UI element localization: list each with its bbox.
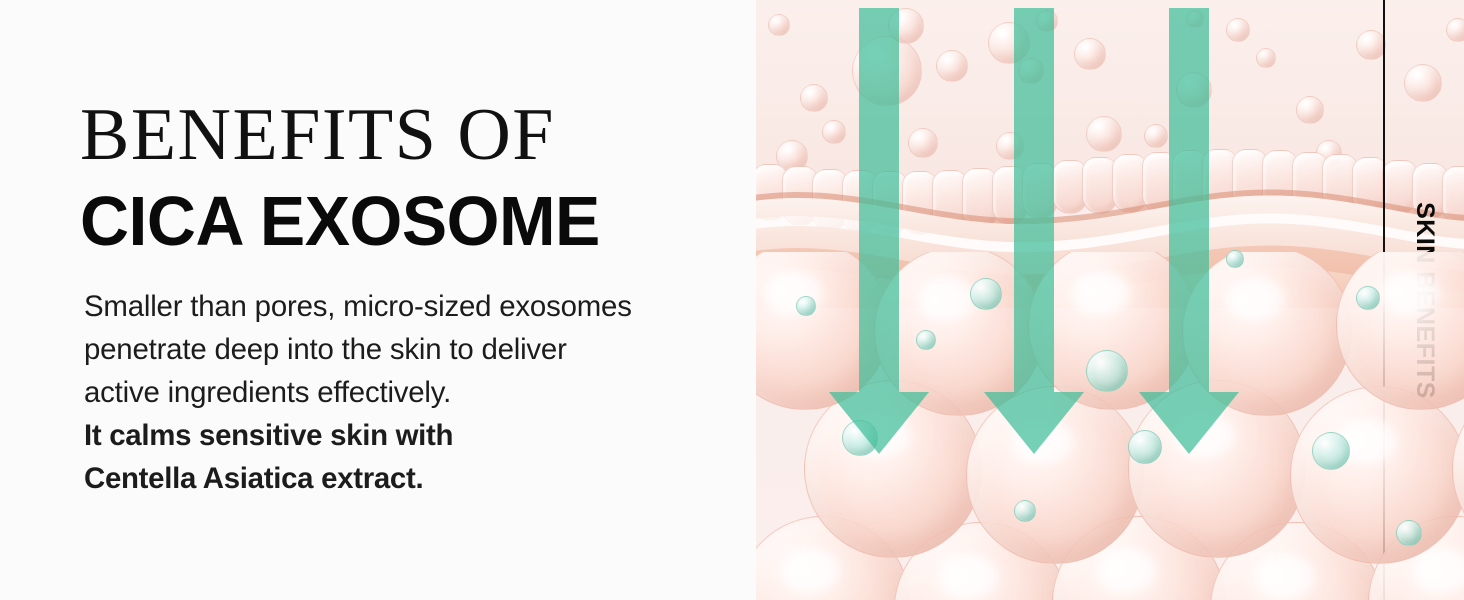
serum-bubble (1086, 116, 1122, 152)
body-line: Centella Asiatica extract. (84, 457, 731, 500)
penetration-arrow (1139, 8, 1239, 454)
serum-bubble (1296, 96, 1324, 124)
arrow-head (984, 392, 1084, 454)
serum-bubble (800, 84, 828, 112)
micro-exosome-bead (1014, 500, 1036, 522)
body-copy: Smaller than pores, micro-sized exosomes… (84, 285, 744, 500)
body-line: penetrate deep into the skin to deliver (84, 328, 731, 371)
benefits-banner: BENEFITS OF CICA EXOSOME Smaller than po… (0, 0, 1464, 600)
body-line: active ingredients effectively. (84, 371, 731, 414)
arrow-shaft (859, 8, 899, 392)
arrow-head (829, 392, 929, 454)
penetration-arrow (984, 8, 1084, 454)
skin-cross-section-illustration (756, 0, 1464, 600)
micro-exosome-bead (1396, 520, 1422, 546)
headline-line-2: CICA EXOSOME (80, 186, 600, 256)
deep-sphere (1290, 386, 1464, 564)
text-panel: BENEFITS OF CICA EXOSOME Smaller than po… (0, 0, 756, 600)
arrow-head (1139, 392, 1239, 454)
serum-bubble (1356, 30, 1386, 60)
headline-line-1: BENEFITS OF (80, 98, 555, 172)
arrow-shaft (1014, 8, 1054, 392)
body-line: Smaller than pores, micro-sized exosomes (84, 285, 731, 328)
micro-exosome-bead (1312, 432, 1350, 470)
arrow-shaft (1169, 8, 1209, 392)
serum-bubble (768, 14, 790, 36)
serum-bubble (936, 50, 968, 82)
micro-exosome-bead (1356, 286, 1380, 310)
micro-exosome-bead (1086, 350, 1128, 392)
deep-sphere (1336, 252, 1464, 410)
body-line: It calms sensitive skin with (84, 414, 731, 457)
micro-exosome-bead (796, 296, 816, 316)
serum-bubble (1256, 48, 1276, 68)
penetration-arrow (829, 8, 929, 454)
